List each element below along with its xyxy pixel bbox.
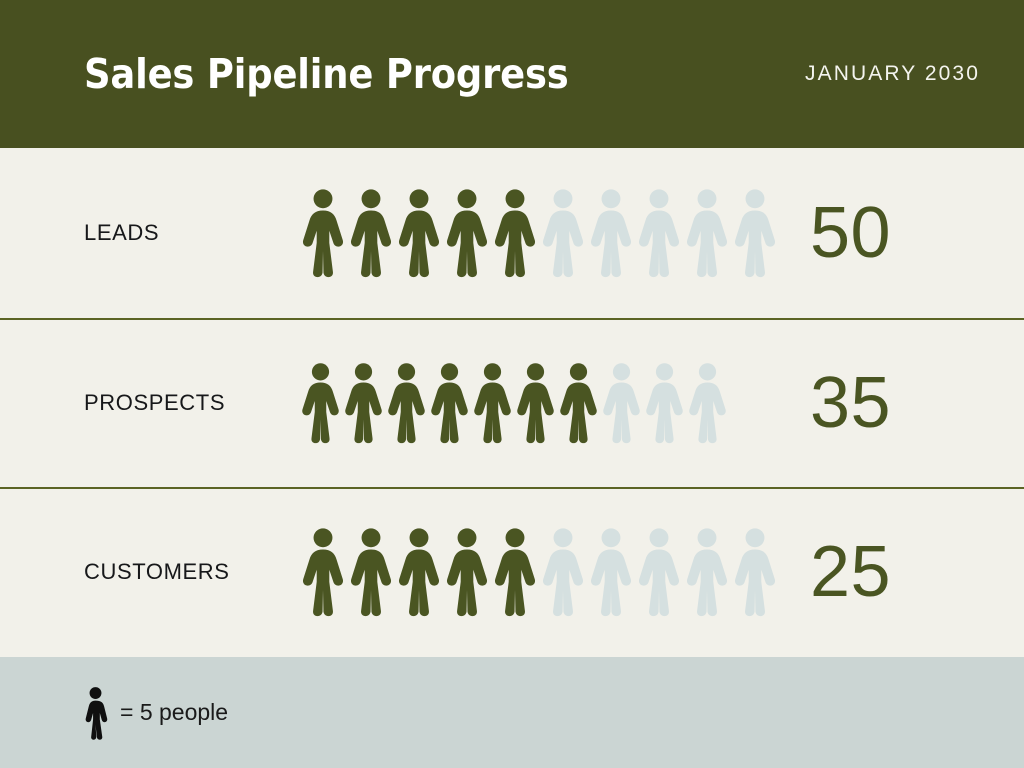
person-icon-filled — [300, 358, 341, 448]
legend-label: = 5 people — [120, 699, 228, 726]
person-icon-filled — [348, 527, 394, 617]
person-icon-filled — [300, 527, 346, 617]
person-icon-empty — [601, 358, 642, 448]
pictogram-group — [300, 358, 810, 448]
person-icon-empty — [732, 188, 778, 278]
person-icon-empty — [732, 527, 778, 617]
person-icon-filled — [386, 358, 427, 448]
person-icon-empty — [687, 358, 728, 448]
person-icon-empty — [684, 527, 730, 617]
row-label-prospects: PROSPECTS — [84, 390, 300, 416]
person-icon-filled — [558, 358, 599, 448]
row-value-leads: 50 — [810, 197, 1024, 269]
row-value-customers: 25 — [810, 536, 1024, 608]
person-icon-filled — [343, 358, 384, 448]
pipeline-row: CUSTOMERS25 — [0, 487, 1024, 657]
person-icon-empty — [540, 527, 586, 617]
row-value-prospects: 35 — [810, 367, 1024, 439]
person-icon-filled — [396, 527, 442, 617]
person-icon-filled — [300, 188, 346, 278]
person-icon-filled — [472, 358, 513, 448]
person-icon-filled — [492, 527, 538, 617]
person-icon-filled — [444, 527, 490, 617]
header-date-label: JANUARY 2030 — [805, 62, 980, 86]
person-icon-empty — [636, 527, 682, 617]
person-icon-filled — [515, 358, 556, 448]
person-icon-filled — [444, 188, 490, 278]
row-label-leads: LEADS — [84, 220, 300, 246]
person-icon-empty — [540, 188, 586, 278]
person-icon-filled — [492, 188, 538, 278]
legend: = 5 people — [82, 686, 228, 740]
person-icon-empty — [588, 188, 634, 278]
pictogram-group — [300, 527, 810, 617]
row-label-customers: CUSTOMERS — [84, 559, 300, 585]
person-icon-filled — [396, 188, 442, 278]
sales-pipeline-infographic: Sales Pipeline Progress JANUARY 2030 LEA… — [0, 0, 1024, 768]
pipeline-rows: LEADS50PROSPECTS35CUSTOMERS25 — [0, 148, 1024, 657]
pipeline-row: LEADS50 — [0, 148, 1024, 318]
person-icon — [82, 686, 109, 740]
person-icon-empty — [636, 188, 682, 278]
person-icon-filled — [348, 188, 394, 278]
person-icon-empty — [684, 188, 730, 278]
person-icon-filled — [429, 358, 470, 448]
header-banner: Sales Pipeline Progress JANUARY 2030 — [0, 0, 1024, 148]
person-icon-empty — [644, 358, 685, 448]
pipeline-row: PROSPECTS35 — [0, 318, 1024, 488]
pictogram-group — [300, 188, 810, 278]
legend-footer: = 5 people — [0, 657, 1024, 768]
person-icon-empty — [588, 527, 634, 617]
page-title: Sales Pipeline Progress — [84, 50, 569, 98]
